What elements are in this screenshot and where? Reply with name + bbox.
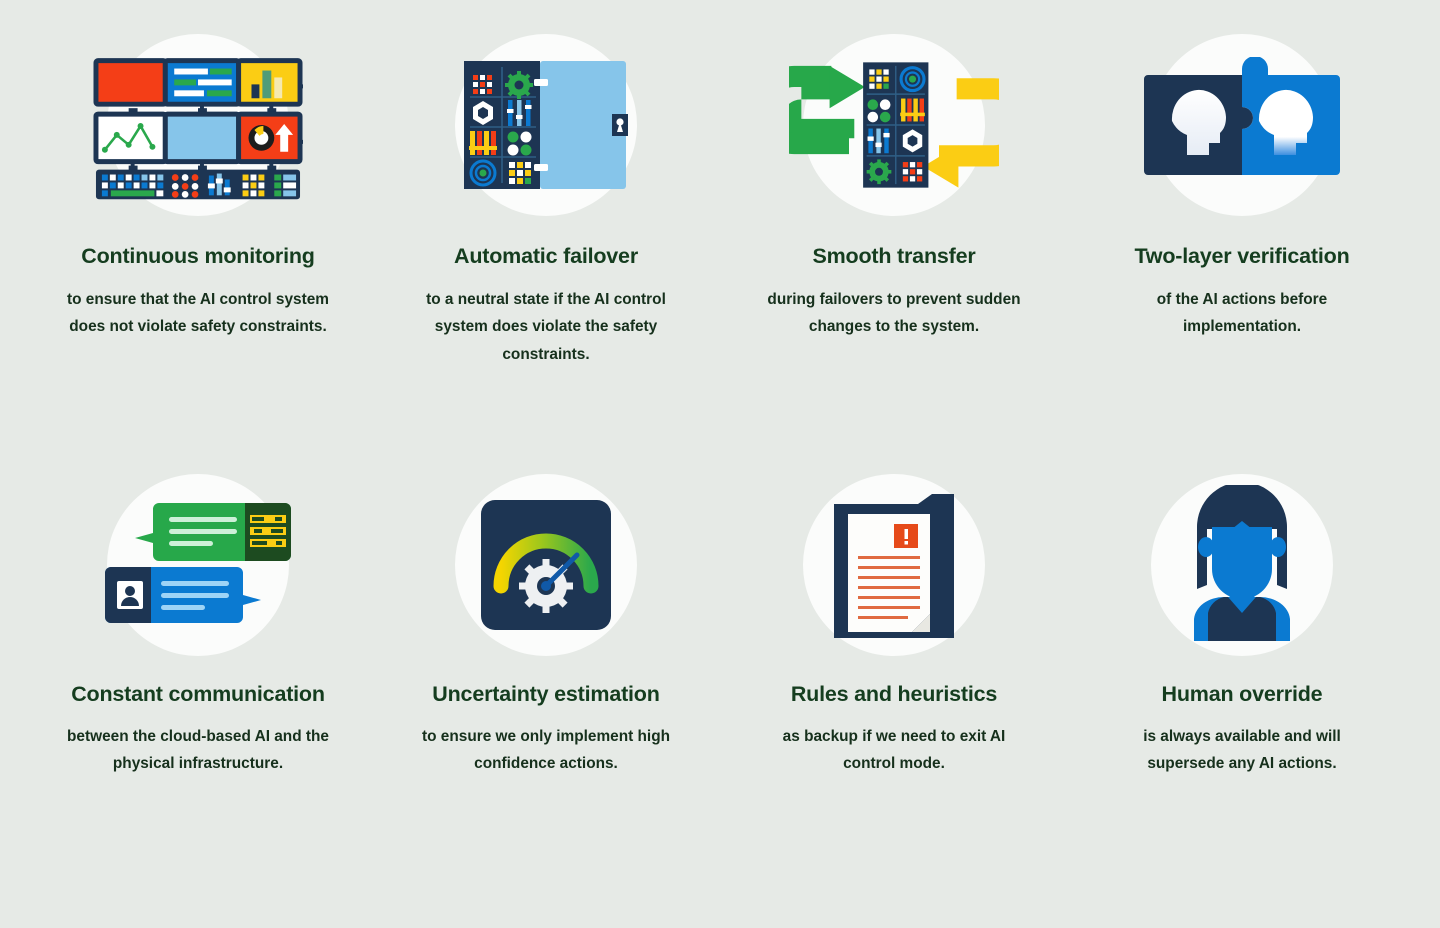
feature-card-constant-communication: Constant communication between the cloud…	[24, 460, 372, 880]
card-body: to a neutral state if the AI control sys…	[407, 286, 685, 368]
icon-container	[1137, 460, 1347, 670]
document-alert-icon	[832, 492, 956, 638]
card-body: is always available and will supersede a…	[1103, 723, 1381, 778]
gauge-gear-icon	[481, 500, 611, 630]
card-title: Human override	[1162, 682, 1323, 707]
feature-card-two-layer-verification: Two-layer verification of the AI actions…	[1068, 20, 1416, 460]
monitoring-dashboard-icon	[93, 50, 303, 200]
feature-card-rules-and-heuristics: Rules and heuristics as backup if we nee…	[720, 460, 1068, 880]
feature-card-continuous-monitoring: Continuous monitoring to ensure that the…	[24, 20, 372, 460]
card-title: Uncertainty estimation	[432, 682, 659, 707]
card-body: of the AI actions before implementation.	[1103, 286, 1381, 341]
feature-grid: Continuous monitoring to ensure that the…	[0, 0, 1440, 928]
card-title: Smooth transfer	[812, 244, 975, 269]
card-body: to ensure we only implement high confide…	[407, 723, 685, 778]
card-title: Rules and heuristics	[791, 682, 997, 707]
card-title: Continuous monitoring	[81, 244, 314, 269]
puzzle-heads-icon	[1144, 57, 1340, 193]
card-title: Automatic failover	[454, 244, 638, 269]
feature-card-uncertainty-estimation: Uncertainty estimation to ensure we only…	[372, 460, 720, 880]
feature-card-automatic-failover: Automatic failover to a neutral state if…	[372, 20, 720, 460]
feature-card-smooth-transfer: Smooth transfer during failovers to prev…	[720, 20, 1068, 460]
icon-container	[789, 460, 999, 670]
card-body: between the cloud-based AI and the physi…	[59, 723, 337, 778]
feature-card-human-override: Human override is always available and w…	[1068, 460, 1416, 880]
icon-container	[1137, 20, 1347, 230]
icon-container	[93, 20, 303, 230]
card-title: Two-layer verification	[1134, 244, 1349, 269]
icon-container	[93, 460, 303, 670]
icon-container	[441, 460, 651, 670]
card-title: Constant communication	[71, 682, 325, 707]
icon-container	[789, 20, 999, 230]
person-avatar-icon	[1166, 485, 1318, 645]
icon-container	[441, 20, 651, 230]
transfer-arrows-icon	[789, 52, 999, 198]
card-body: during failovers to prevent sudden chang…	[755, 286, 1033, 341]
card-body: to ensure that the AI control system doe…	[59, 286, 337, 341]
card-body: as backup if we need to exit AI control …	[755, 723, 1033, 778]
control-cabinet-lock-icon	[464, 57, 628, 193]
chat-bubbles-icon	[103, 499, 293, 631]
